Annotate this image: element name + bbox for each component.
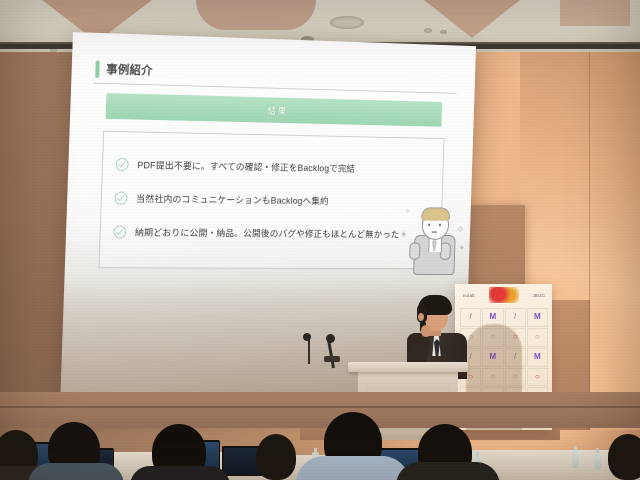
audience-member-shoulders <box>28 463 124 480</box>
lectern-top-surface <box>348 362 468 372</box>
microphone-base <box>324 356 340 362</box>
sponsor-logo: ○ <box>527 368 548 387</box>
audience-member-shoulders <box>296 456 410 480</box>
conference-photo: 事例紹介 結果 PDF提出不要に。すべての確認・修正をBacklogで完結 当然… <box>0 0 640 480</box>
microphone-icon <box>303 333 311 341</box>
presenter-ear <box>418 313 424 321</box>
presenter-hand <box>421 325 431 337</box>
sponsor-logo: M <box>527 348 548 367</box>
sponsor-logo: / <box>505 308 526 327</box>
ceiling-panel <box>424 0 520 38</box>
ceiling-light <box>424 28 432 33</box>
ceiling-light <box>78 49 88 53</box>
ceiling-light <box>440 30 447 34</box>
ceiling-light <box>330 16 364 29</box>
microphone-icon <box>326 334 335 343</box>
audience-member-head <box>608 434 640 480</box>
water-bottle <box>572 450 579 468</box>
ceiling-panel <box>560 0 630 26</box>
ceiling-panel <box>196 0 316 30</box>
audience-backwall <box>0 392 640 428</box>
audience-wall-rail <box>0 406 640 408</box>
sponsor-logo: ○ <box>527 328 548 347</box>
microphone-stand <box>308 338 310 364</box>
water-bottle <box>594 452 601 470</box>
event-logo-icon <box>489 287 519 303</box>
ceiling-edge-shadow <box>0 46 640 49</box>
audience-member-head <box>256 434 296 480</box>
banner-brand-right: JBUG <box>532 293 545 298</box>
audience-member-shoulders <box>130 466 230 480</box>
sponsor-logo: M <box>527 308 548 327</box>
wall-seam <box>589 30 590 430</box>
audience-member-shoulders <box>396 462 500 480</box>
ceiling-panel <box>42 0 152 42</box>
left-wall-edge <box>78 36 81 424</box>
left-wall <box>0 34 82 424</box>
